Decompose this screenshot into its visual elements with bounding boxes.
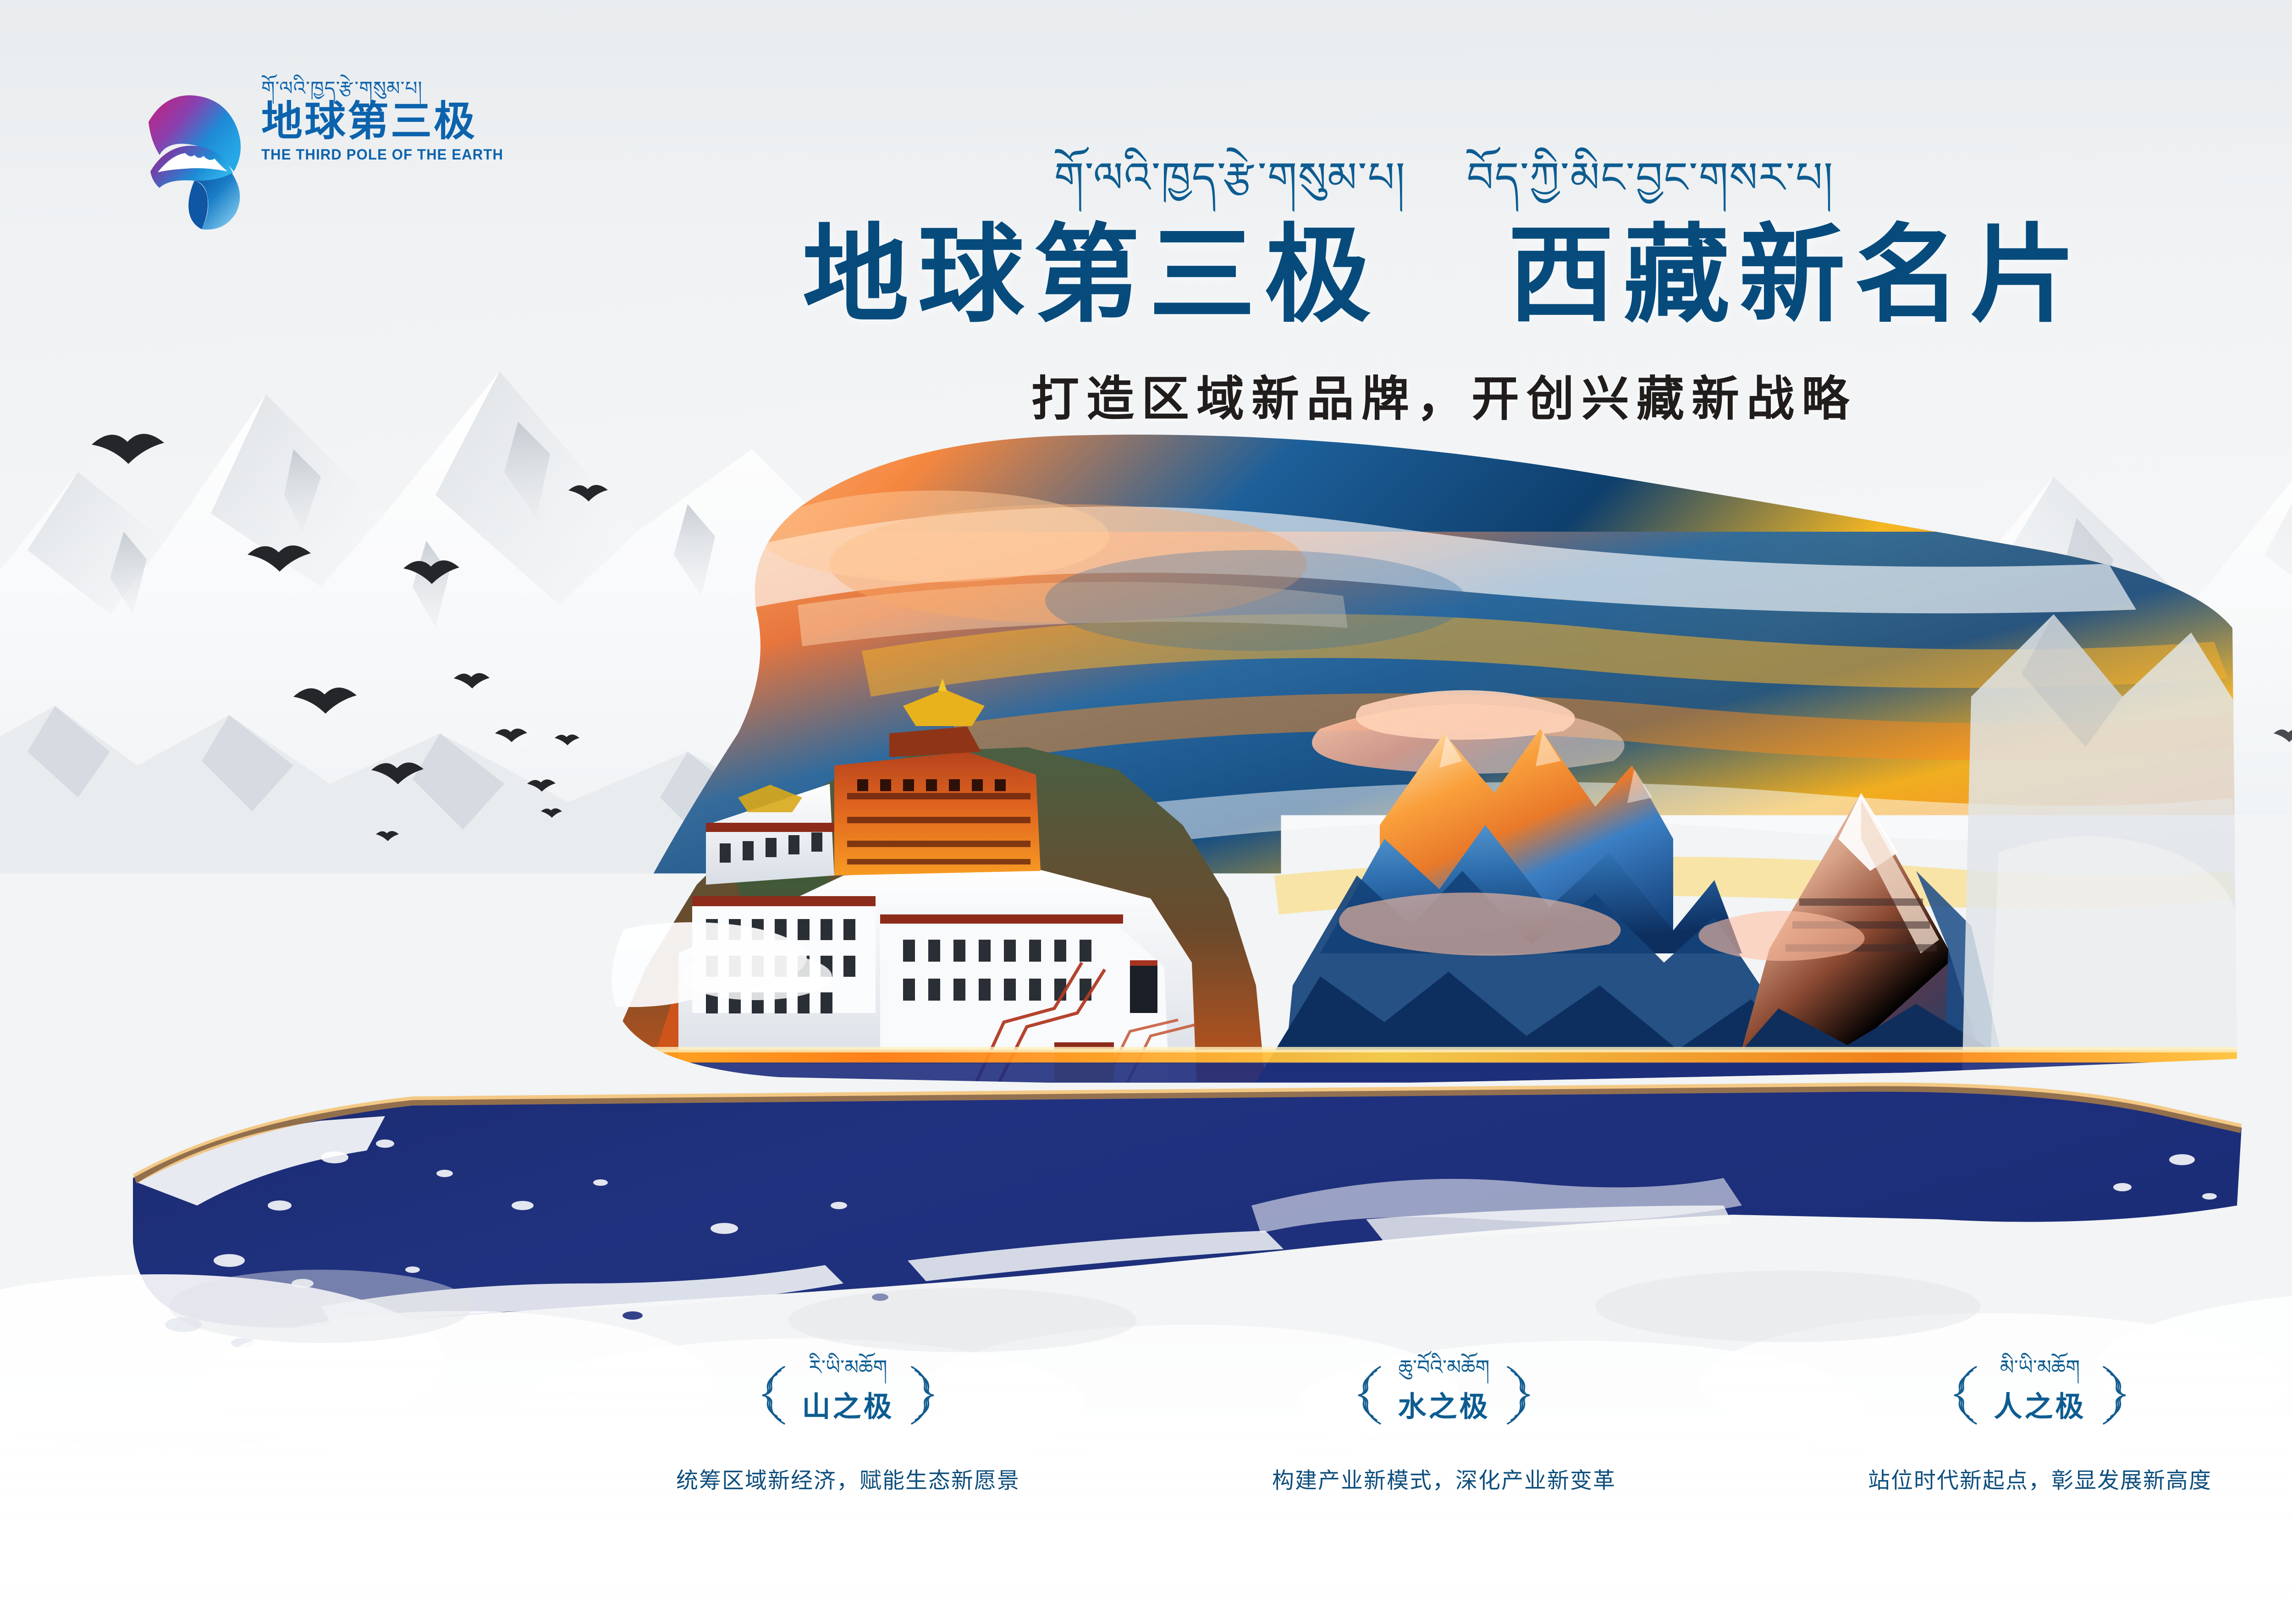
pillar-people-tibetan: མི་ཡི་མཆོག [1994,1357,2086,1379]
pillar-water[interactable]: ཆུ་བོའི་མཆོག 水之极 构建产业新模式，深化产业新变革 [1146,1357,1742,1595]
headline-block: གོ་ལའི་ཁྱད་རྩེ་གསུམ་པ། བོད་ཀྱི་མིང་བྱང་ག… [0,151,2292,429]
tibet-landscape-collage [541,413,2237,1183]
headline-tibetan-part2: བོད་ཀྱི་མིང་བྱང་གསར་པ། [1466,153,1834,202]
pillars-row: རི་ཡི་མཆོག 山之极 统筹区域新经济，赋能生态新愿景 [0,1357,2292,1595]
pillar-people-description: 站位时代新起点，彰显发展新高度 [1742,1462,2292,1494]
pillar-water-tibetan: ཆུ་བོའི་མཆོག [1398,1357,1490,1379]
brand-logo-tibetan: གོ་ལའི་ཁྱད་རྩེ་གསུམ་པ། [261,78,541,99]
page-title: 地球第三极 西藏新名片 [0,220,2292,331]
brand-logo-text: གོ་ལའི་ཁྱད་རྩེ་གསུམ་པ། 地球第三极 THE THIRD P… [261,78,541,163]
pillar-people[interactable]: མི་ཡི་མཆོག 人之极 站位时代新起点，彰显发展新高度 [1742,1357,2292,1595]
decorative-double-bracket-icon-right [2100,1363,2137,1427]
brand-logo-chinese: 地球第三极 [261,100,541,143]
decorative-double-bracket-icon-right [1504,1363,1541,1427]
decorative-double-bracket-icon-left [1943,1363,1980,1427]
headline-tibetan-part1: གོ་ལའི་ཁྱད་རྩེ་གསུམ་པ། [1054,153,1406,202]
headline-tibetan: གོ་ལའི་ཁྱད་རྩེ་གསུམ་པ། བོད་ཀྱི་མིང་བྱང་ག… [0,151,2292,204]
pillar-mountain[interactable]: རི་ཡི་མཆོག 山之极 统筹区域新经济，赋能生态新愿景 [550,1357,1146,1595]
pillar-mountain-description: 统筹区域新经济，赋能生态新愿景 [550,1462,1146,1494]
pillar-water-title: 水之极 [1398,1383,1490,1425]
decorative-double-bracket-icon-right [908,1363,945,1427]
pillar-mountain-title: 山之极 [802,1383,894,1425]
pillar-water-header: ཆུ་བོའི་མཆོག 水之极 [1347,1357,1540,1425]
page-title-part2: 西藏新名片 [1508,216,2085,335]
pillar-water-description: 构建产业新模式，深化产业新变革 [1146,1462,1742,1494]
page-title-part1: 地球第三极 [803,216,1380,335]
pillar-people-title: 人之极 [1994,1383,2086,1425]
pillar-mountain-tibetan: རི་ཡི་མཆོག [802,1357,894,1379]
flying-birds-flock-right [2246,678,2292,999]
pillar-mountain-header: རི་ཡི་མཆོག 山之极 [751,1357,944,1425]
decorative-double-bracket-icon-left [1347,1363,1384,1427]
poster-canvas: གོ་ལའི་ཁྱད་རྩེ་གསུམ་པ། 地球第三极 THE THIRD P… [0,0,2292,1624]
page-subtitle: 打造区域新品牌，开创兴藏新战略 [0,360,2292,429]
pillar-people-header: མི་ཡི་མཆོག 人之极 [1943,1357,2136,1425]
decorative-double-bracket-icon-left [751,1363,788,1427]
